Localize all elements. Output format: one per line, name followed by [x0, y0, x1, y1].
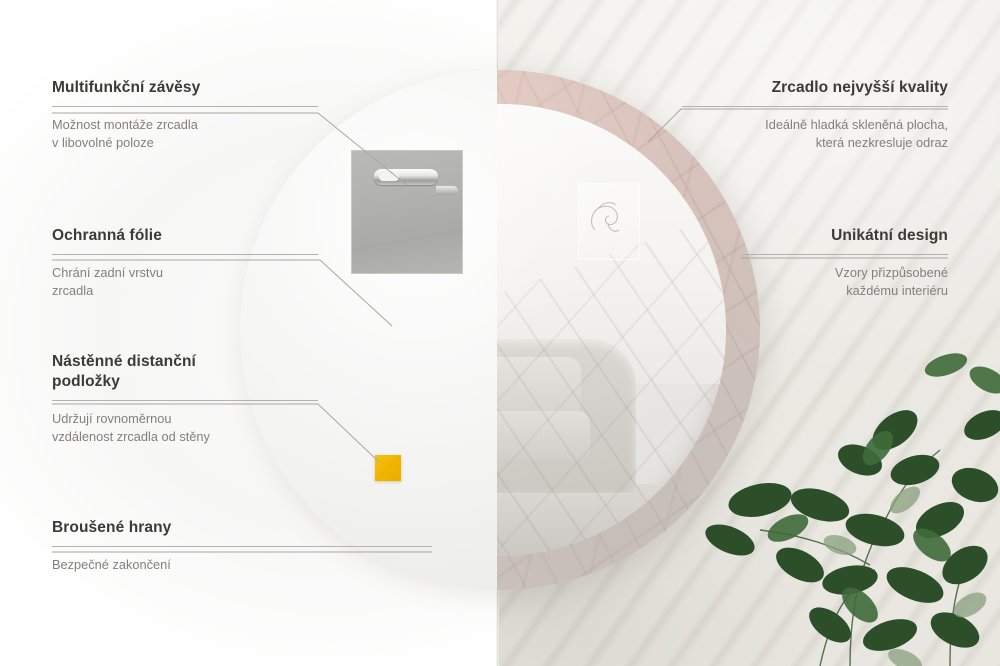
- callout-description: Vzory přizpůsobené každému interiéru: [742, 264, 948, 301]
- callout-rule: [742, 254, 948, 255]
- callout-title: Multifunkční závěsy: [52, 78, 318, 98]
- callout-title: Broušené hrany: [52, 518, 432, 538]
- callout-rule: [52, 546, 432, 547]
- watermark-logo-tile: [578, 183, 640, 260]
- callout-nastenne-distancni-podlozky: Nástěnné distanční podložky Udržují rovn…: [52, 352, 318, 447]
- callout-zrcadlo-nejvyssi-kvality: Zrcadlo nejvyšší kvality Ideálně hladká …: [682, 78, 948, 153]
- callout-title: Nástěnné distanční podložky: [52, 352, 318, 392]
- infographic-canvas: Multifunkční závěsy Možnost montáže zrca…: [0, 0, 1000, 666]
- hanger-plate: [351, 150, 463, 274]
- callout-description: Ideálně hladká skleněná plocha, která ne…: [682, 116, 948, 153]
- callout-ochranna-folie: Ochranná fólie Chrání zadní vrstvu zrcad…: [52, 226, 318, 301]
- callout-description: Udržují rovnoměrnou vzdálenost zrcadla o…: [52, 410, 318, 447]
- callout-rule: [52, 106, 318, 107]
- callout-brousene-hrany: Broušené hrany Bezpečné zakončení: [52, 518, 432, 574]
- callout-rule: [52, 254, 318, 255]
- wall-spacer-pad: [375, 455, 401, 481]
- callout-title: Ochranná fólie: [52, 226, 318, 246]
- callout-rule: [682, 106, 948, 107]
- callout-rule: [52, 400, 318, 401]
- callout-description: Bezpečné zakončení: [52, 556, 432, 575]
- callout-title: Zrcadlo nejvyšší kvality: [682, 78, 948, 98]
- hanger-slot-icon: [379, 173, 399, 181]
- callout-description: Chrání zadní vrstvu zrcadla: [52, 264, 318, 301]
- callout-title: Unikátní design: [742, 226, 948, 246]
- callout-multifunkcni-zavesy: Multifunkční závěsy Možnost montáže zrca…: [52, 78, 318, 153]
- hanger-tail-icon: [436, 186, 458, 195]
- hanger-bracket-icon: [374, 169, 438, 185]
- callout-unikatni-design: Unikátní design Vzory přizpůsobené každé…: [742, 226, 948, 301]
- callout-description: Možnost montáže zrcadla v libovolné polo…: [52, 116, 318, 153]
